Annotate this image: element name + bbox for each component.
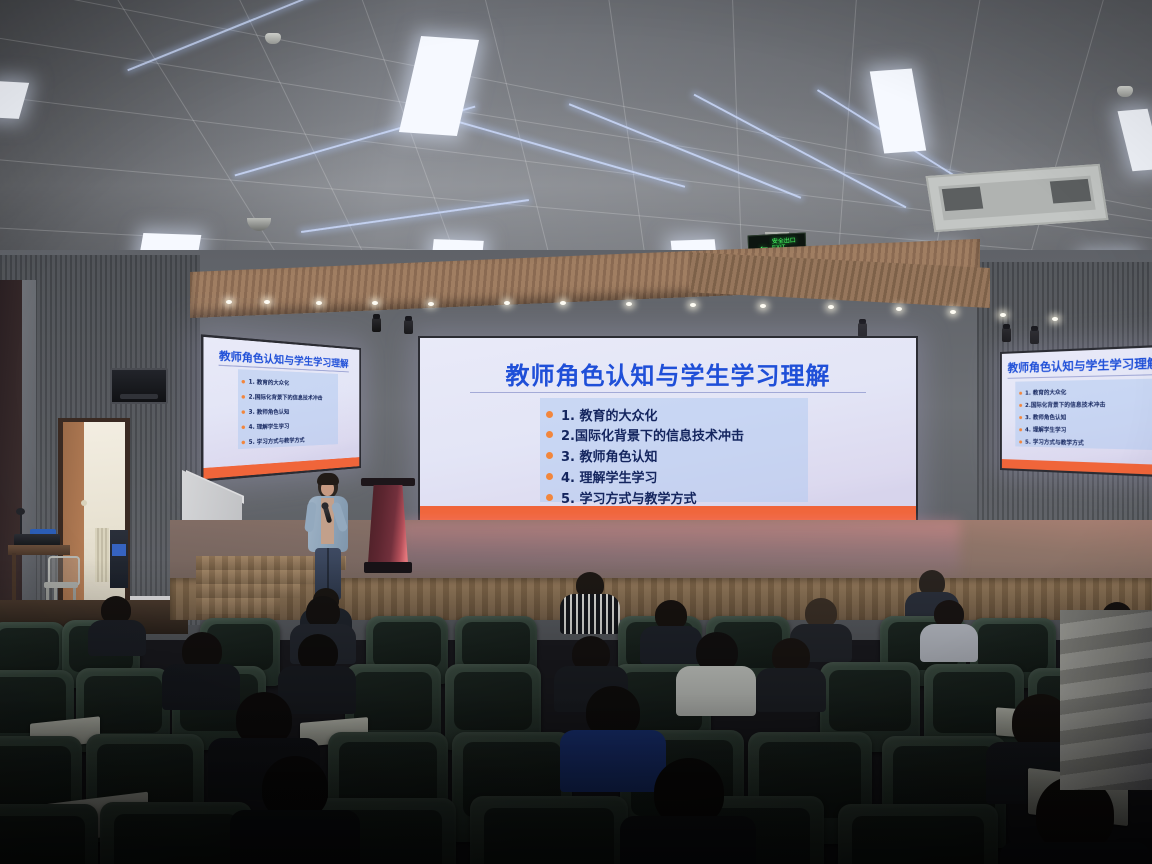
presenter-hair [317,473,339,485]
auditorium-seat [838,804,998,864]
slide-bullet-text: 2.国际化背景下的信息技术冲击 [561,425,744,444]
slide-bullet-text: 1. 教育的大众化 [249,378,290,387]
bullet-dot-icon [1019,428,1022,431]
lectern-body [368,485,408,563]
audience-member [756,638,826,704]
auditorium-seat [470,796,628,864]
person-body [620,816,756,864]
right-side-screen[interactable]: 教师角色认知与学生学习理解 1. 教育的大众化 2.国际化背景下的信息技术冲击 … [1000,344,1152,479]
downlight [264,300,270,304]
slide-bullet-2: 2.国际化背景下的信息技术冲击 [242,393,323,402]
bullet-dot-icon [242,441,246,445]
left-side-screen[interactable]: 教师角色认知与学生学习理解 1. 教育的大众化 2.国际化背景下的信息技术冲击 … [201,334,361,481]
bullet-dot-icon [242,410,246,414]
control-table [8,545,70,555]
bullet-dot-icon [1019,440,1022,443]
bullet-dot-icon [546,473,553,480]
slide-bullet-4: 4. 理解学生学习 [242,422,290,431]
slide-bullet-5: 5. 学习方式与教学方式 [546,488,697,507]
door-handle-icon[interactable] [81,500,87,506]
downlight [626,302,632,306]
side-aisle-floor [1060,610,1152,790]
downlight [690,303,696,307]
slide-bullet-text: 3. 教师角色认知 [561,446,658,465]
slide-title-main: 教师角色认知与学生学习理解 [506,356,831,391]
bullet-dot-icon [1019,416,1022,419]
track-spotlight [1030,330,1039,344]
slide-bullet-1: 1. 教育的大众化 [242,378,290,387]
bullet-dot-icon [546,494,553,501]
lectern-top [361,478,415,486]
slide-bullet-text: 2.国际化背景下的信息技术冲击 [249,393,323,402]
downlight [1052,317,1058,321]
main-center-screen[interactable]: 教师角色认知与学生学习理解 1. 教育的大众化 2.国际化背景下的信息技术冲击 … [418,336,918,528]
mic-stand [20,512,22,536]
slide-bullet-text: 5. 学习方式与教学方式 [1025,437,1084,447]
bullet-dot-icon [1019,391,1022,394]
slide-bullet-4: 4. 理解学生学习 [546,467,658,486]
person-body [88,620,146,656]
slide-bullet-text: 3. 教师角色认知 [249,408,290,416]
audience-member [920,600,978,656]
person-body [560,594,620,634]
downlight [226,300,232,304]
slide-bullet-2: 2.国际化背景下的信息技术冲击 [1019,400,1105,409]
slide-bullet-5: 5. 学习方式与教学方式 [1019,437,1084,447]
slide-bullet-1: 1. 教育的大众化 [1019,388,1066,397]
slide-bullet-3: 3. 教师角色认知 [1019,413,1066,421]
audience-member [230,756,360,864]
person-body [230,810,360,864]
wall-speaker [110,368,168,404]
audience-member [676,632,756,708]
downlight [428,302,434,306]
track-spotlight [1002,328,1011,342]
bullet-dot-icon [546,411,553,418]
track-spotlight [404,320,413,334]
downlight [372,301,378,305]
slide-bullet-3: 3. 教师角色认知 [242,408,290,416]
slide-bullet-4: 4. 理解学生学习 [1019,425,1066,434]
downlight [828,305,834,309]
audience-member [620,758,756,864]
downlight [950,310,956,314]
person-body [756,668,826,712]
slide-bullet-2: 2.国际化背景下的信息技术冲击 [546,425,744,444]
bullet-dot-icon [1019,403,1022,406]
bullet-dot-icon [242,425,246,429]
lecture-hall-photo: ← 安全出口 EXIT 教师角色认知与学生学习理解 1. 教育的大众化 [0,0,1152,864]
slide-title-right: 教师角色认知与学生学习理解 [1008,354,1152,376]
audience-member [560,572,620,630]
downlight [1000,313,1006,317]
audience-member [88,596,146,650]
track-spotlight [858,323,867,337]
bullet-dot-icon [546,452,553,459]
slide-bullet-1: 1. 教育的大众化 [546,405,658,424]
downlight [504,301,510,305]
downlight [316,301,322,305]
slide-bullet-text: 4. 理解学生学习 [1025,425,1066,434]
slide-bullet-text: 5. 学习方式与教学方式 [561,488,697,507]
track-spotlight [372,318,381,332]
slide-bullet-text: 4. 理解学生学习 [561,467,658,486]
person-body [676,666,756,716]
person-body [1000,842,1150,864]
audience-area [0,560,1152,864]
slide-bullet-text: 3. 教师角色认知 [1025,413,1066,421]
slide-bullet-text: 1. 教育的大众化 [1025,388,1066,397]
bullet-dot-icon [242,380,246,384]
slide-bullet-text: 2.国际化背景下的信息技术冲击 [1025,400,1105,409]
downlight [760,304,766,308]
person-body [920,624,978,662]
slide-bullet-3: 3. 教师角色认知 [546,446,658,465]
auditorium-seat [0,804,98,864]
bullet-dot-icon [242,395,246,399]
downlight [896,307,902,311]
bullet-dot-icon [546,431,553,438]
slide-title-rule [470,392,866,393]
downlight [560,301,566,305]
slide-bullet-text: 4. 理解学生学习 [249,422,290,431]
slide-bullet-text: 1. 教育的大众化 [561,405,658,424]
